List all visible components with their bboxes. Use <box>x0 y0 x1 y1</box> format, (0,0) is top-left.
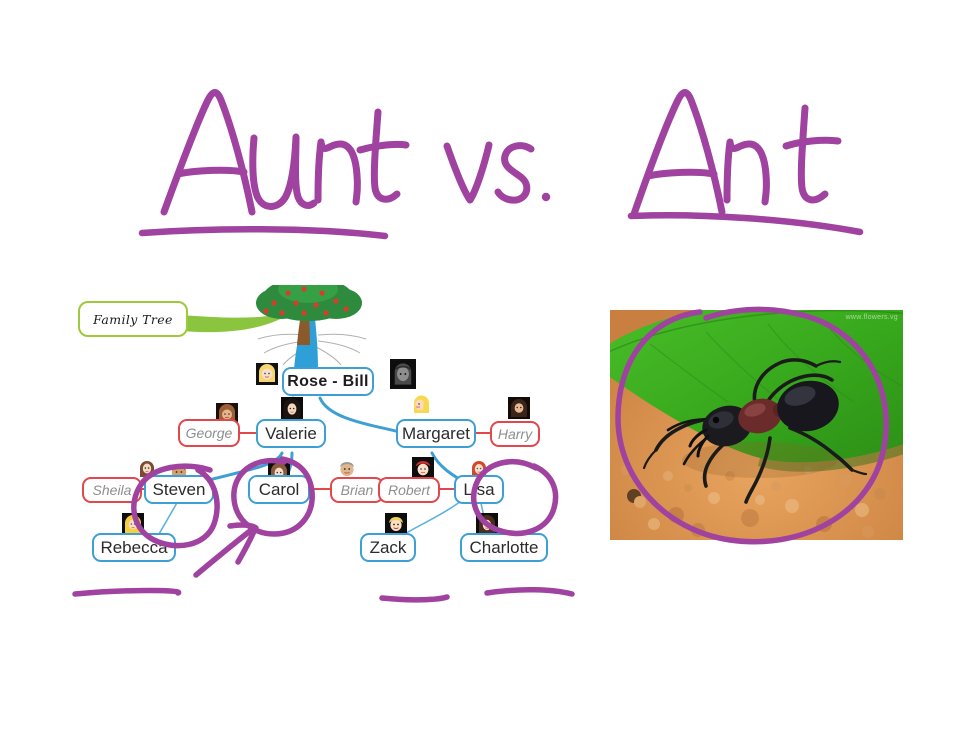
tree-node-harry[interactable]: Harry <box>490 421 540 447</box>
underline-ant <box>631 215 860 232</box>
family-tree-caption-label: Family Tree <box>93 312 173 327</box>
tree-node-brian[interactable]: Brian <box>330 477 384 503</box>
tree-node-label: Robert <box>388 483 430 497</box>
tree-node-label: Harry <box>498 427 532 441</box>
avatar-zack <box>385 513 407 535</box>
ant-photo: www.flowers.vg <box>610 310 903 540</box>
tree-node-label: Zack <box>370 539 407 556</box>
tree-node-label: George <box>186 426 233 440</box>
tree-node-margaret[interactable]: Margaret <box>396 419 476 448</box>
tree-node-label: Rose - Bill <box>287 374 369 390</box>
avatar-harry <box>508 397 530 419</box>
tree-node-label: Lisa <box>463 481 494 498</box>
tree-node-label: Steven <box>153 481 206 498</box>
tree-canopy <box>256 285 362 321</box>
avatar-robert <box>412 457 434 479</box>
tree-node-sheila[interactable]: Sheila <box>82 477 142 503</box>
family-tree-diagram: Family Tree <box>60 285 600 605</box>
family-tree-caption: Family Tree <box>78 301 188 337</box>
tree-node-carol[interactable]: Carol <box>248 475 310 504</box>
photo-watermark: www.flowers.vg <box>846 314 898 321</box>
tree-node-label: Valerie <box>265 425 317 442</box>
tree-node-label: Brian <box>341 483 374 497</box>
avatar-margaret <box>410 393 432 415</box>
avatar-charlotte <box>476 513 498 535</box>
tree-node-charlotte[interactable]: Charlotte <box>460 533 548 562</box>
tree-node-rose-bill[interactable]: Rose - Bill <box>282 367 374 396</box>
tree-node-robert[interactable]: Robert <box>378 477 440 503</box>
slide-canvas: Family Tree <box>0 0 980 735</box>
tree-node-label: Sheila <box>93 483 132 497</box>
tree-node-george[interactable]: George <box>178 419 240 447</box>
avatar-bill <box>390 359 416 389</box>
tree-node-zack[interactable]: Zack <box>360 533 416 562</box>
link-root-margaret <box>320 398 405 433</box>
ant-photo-image <box>610 310 903 540</box>
tree-node-label: Rebecca <box>100 539 167 556</box>
avatar-rebecca <box>122 513 144 535</box>
slide-title <box>0 0 980 270</box>
tree-node-rebecca[interactable]: Rebecca <box>92 533 176 562</box>
avatar-valerie <box>281 397 303 419</box>
tree-node-label: Carol <box>259 481 300 498</box>
tree-node-label: Charlotte <box>470 539 539 556</box>
title-handwriting <box>0 0 980 270</box>
underline-aunt <box>142 229 385 236</box>
tree-node-label: Margaret <box>402 425 470 442</box>
avatar-brian <box>336 457 358 479</box>
tree-node-steven[interactable]: Steven <box>144 475 214 504</box>
tree-node-valerie[interactable]: Valerie <box>256 419 326 448</box>
avatar-rose <box>256 363 278 385</box>
tree-node-lisa[interactable]: Lisa <box>454 475 504 504</box>
